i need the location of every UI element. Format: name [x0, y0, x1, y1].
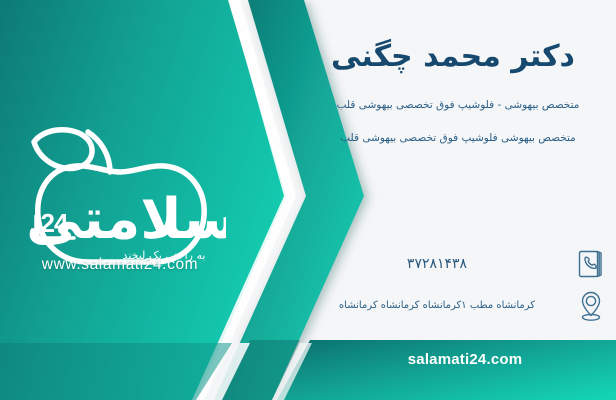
- phone-number: ۳۷۲۸۱۴۳۸: [308, 256, 566, 272]
- phonebook-icon: [574, 247, 608, 281]
- doctor-name: دکتر محمد چگنی: [308, 38, 598, 76]
- svg-text:24: 24: [41, 208, 69, 238]
- business-card: سلامتی 24 به راحتی یک لبخند www.salamati…: [0, 0, 616, 400]
- doctor-specialty-line-2: متخصص بیهوشی فلوشیپ فوق تخصصی بیهوشی قلب: [308, 131, 608, 147]
- brand-logo: سلامتی 24 به راحتی یک لبخند www.salamati…: [14, 120, 226, 290]
- contact-row-phone[interactable]: ۳۷۲۸۱۴۳۸: [308, 247, 608, 281]
- logo-website-url: www.salamati24.com: [14, 256, 226, 274]
- card-details-pane: دکتر محمد چگنی متخصص بیهوشی - فلوشیپ فوق…: [300, 0, 616, 400]
- footer-website-url[interactable]: salamati24.com: [330, 351, 600, 368]
- doctor-specialty-line-1: متخصص بیهوشی - فلوشیپ فوق تخصصی بیهوشی ق…: [308, 98, 608, 114]
- contact-row-address[interactable]: کرمانشاه مطب ۱کرمانشاه کرمانشاه کرمانشاه: [308, 288, 608, 324]
- address-text: کرمانشاه مطب ۱کرمانشاه کرمانشاه کرمانشاه: [308, 299, 566, 313]
- salamati24-apple-logo: سلامتی 24 به راحتی یک لبخند: [14, 120, 226, 270]
- location-pin-icon: [574, 289, 608, 323]
- footer-bar-left: [0, 343, 232, 400]
